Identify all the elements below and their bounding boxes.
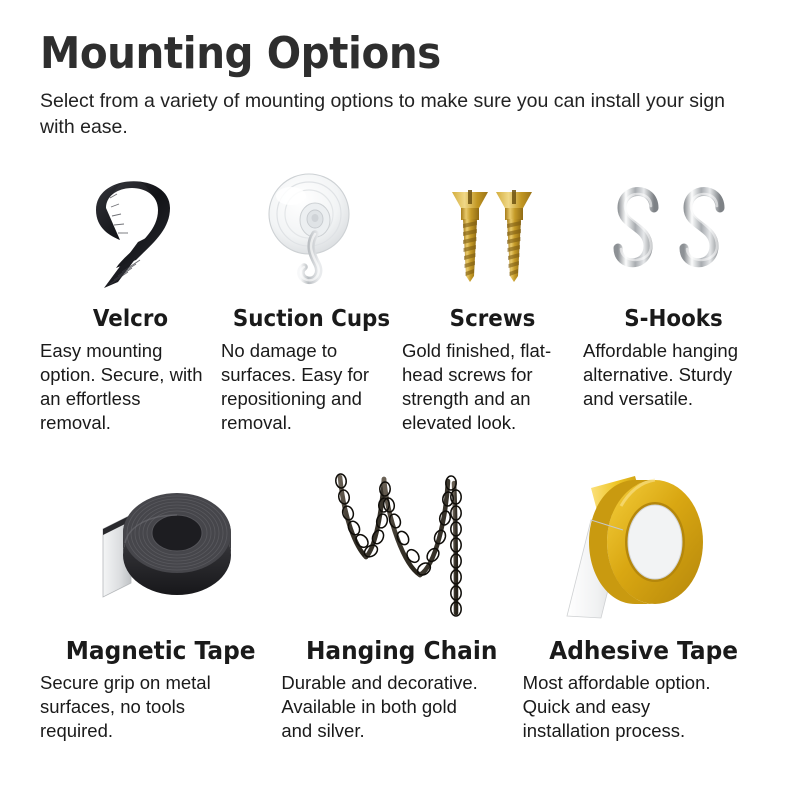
option-card-magnetic-tape: Magnetic Tape Secure grip on metal surfa… [40, 461, 281, 743]
option-heading: Screws [408, 307, 576, 332]
option-description: Easy mounting option. Secure, with an ef… [40, 339, 221, 435]
option-heading: Magnetic Tape [48, 637, 272, 665]
option-heading: Hanging Chain [290, 637, 514, 665]
mounting-options-infographic: Mounting Options Select from a variety o… [0, 0, 804, 804]
option-description: Affordable hanging alternative. Sturdy a… [583, 339, 764, 411]
hanging-chain-icon [281, 461, 522, 621]
page-title: Mounting Options [40, 0, 706, 76]
s-hooks-icon [583, 159, 764, 294]
adhesive-tape-roll-icon [523, 461, 764, 621]
option-card-velcro: Velcro Easy mounting option. Secure, wit… [40, 159, 221, 435]
magnetic-tape-roll-icon [40, 461, 281, 621]
option-card-hanging-chain: Hanging Chain Durable and decorative. Av… [281, 461, 522, 743]
option-card-s-hooks: S-Hooks Affordable hanging alternative. … [583, 159, 764, 435]
option-description: Most affordable option. Quick and easy i… [523, 671, 764, 743]
option-heading: Adhesive Tape [531, 637, 755, 665]
option-heading: S-Hooks [589, 307, 757, 332]
option-description: Secure grip on metal surfaces, no tools … [40, 671, 281, 743]
velcro-strap-icon [40, 159, 221, 294]
option-description: Durable and decorative. Available in bot… [281, 671, 522, 743]
option-heading: Suction Cups [227, 307, 395, 332]
option-card-adhesive-tape: Adhesive Tape Most affordable option. Qu… [523, 461, 764, 743]
mounting-options-row-1: Velcro Easy mounting option. Secure, wit… [40, 159, 764, 435]
mounting-options-row-2: Magnetic Tape Secure grip on metal surfa… [40, 461, 764, 743]
flat-head-screws-icon [402, 159, 583, 294]
option-description: Gold finished, flat-head screws for stre… [402, 339, 583, 435]
option-card-screws: Screws Gold finished, flat-head screws f… [402, 159, 583, 435]
option-description: No damage to surfaces. Easy for repositi… [221, 339, 402, 435]
option-card-suction-cups: Suction Cups No damage to surfaces. Easy… [221, 159, 402, 435]
option-heading: Velcro [46, 307, 214, 332]
page-subtitle: Select from a variety of mounting option… [40, 89, 740, 141]
suction-cup-hook-icon [221, 159, 402, 294]
